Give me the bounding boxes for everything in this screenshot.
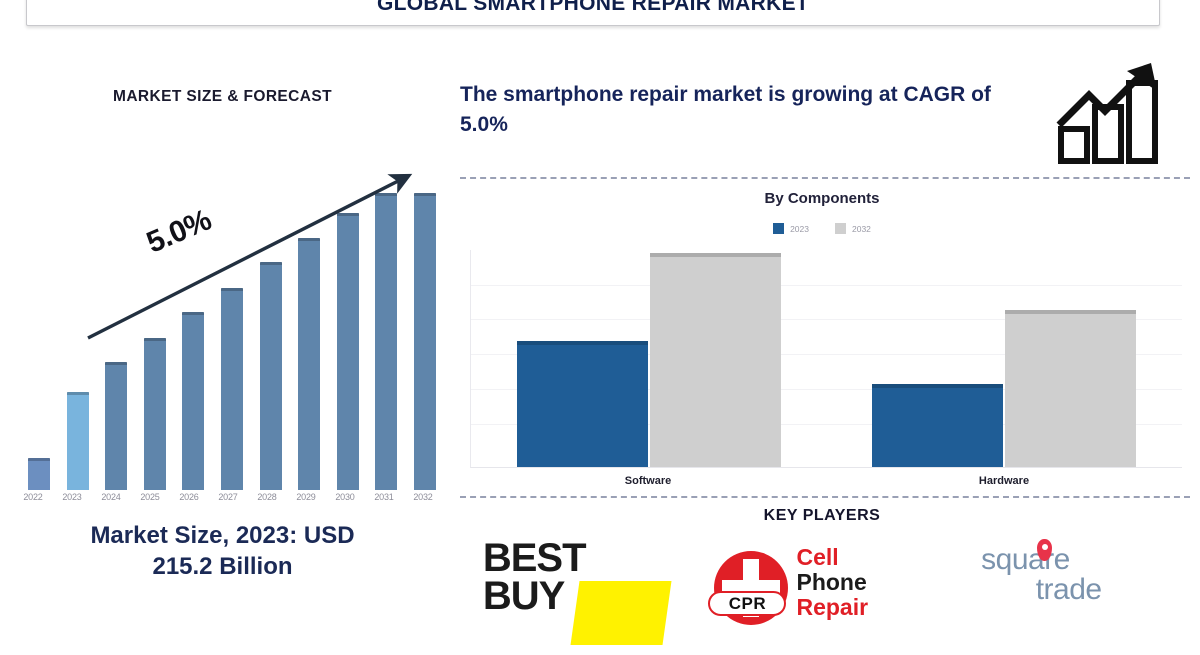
cpr-word-2: Phone <box>796 570 868 595</box>
forecast-year-label: 2031 <box>369 492 399 502</box>
best-buy-word-1: BEST <box>483 539 586 577</box>
forecast-bar <box>182 312 204 490</box>
forecast-year-label: 2029 <box>291 492 321 502</box>
legend-label: 2032 <box>852 224 871 234</box>
squaretrade-word-1: square <box>981 545 1156 575</box>
best-buy-wordmark: BEST BUY <box>483 539 586 615</box>
forecast-bar <box>105 362 127 490</box>
forecast-bar <box>221 288 243 490</box>
cpr-word-1: Cell <box>796 545 868 570</box>
forecast-year-label: 2024 <box>96 492 126 502</box>
logo-squaretrade: square trade <box>954 537 1184 655</box>
infographic-title-bar: GLOBAL SMARTPHONE REPAIR MARKET <box>26 0 1160 26</box>
key-players-logos: BEST BUY CPR Cell Phone Repair <box>452 537 1192 655</box>
legend-label: 2023 <box>790 224 809 234</box>
forecast-bar <box>260 262 282 490</box>
components-category-axis: SoftwareHardware <box>470 475 1182 487</box>
legend-entry[interactable]: 2023 <box>773 223 809 234</box>
forecast-bar <box>28 458 50 490</box>
by-components-chart <box>470 250 1182 468</box>
cpr-word-3: Repair <box>796 595 868 620</box>
components-bar-groups <box>471 249 1182 467</box>
component-bar-group <box>499 249 799 467</box>
component-bar <box>650 253 781 467</box>
forecast-year-label: 2022 <box>18 492 48 502</box>
legend-swatch <box>835 223 846 234</box>
forecast-bar <box>375 193 397 490</box>
forecast-year-label: 2027 <box>213 492 243 502</box>
growth-bar-chart-arrow-icon <box>1047 55 1172 165</box>
logo-cpr-cell-phone-repair: CPR Cell Phone Repair <box>707 537 937 655</box>
forecast-year-label: 2026 <box>174 492 204 502</box>
divider-top <box>460 177 1190 179</box>
squaretrade-word-2: trade <box>981 575 1156 605</box>
divider-bottom <box>460 496 1190 498</box>
market-size-forecast-chart: 5.0% <box>18 160 438 490</box>
right-content-panel: The smartphone repair market is growing … <box>452 55 1200 600</box>
market-size-value: Market Size, 2023: USD 215.2 Billion <box>0 520 445 582</box>
market-size-forecast-panel: MARKET SIZE & FORECAST 5.0% 202220232024… <box>0 55 445 600</box>
forecast-year-label: 2025 <box>135 492 165 502</box>
forecast-bar <box>414 193 436 490</box>
market-size-forecast-heading: MARKET SIZE & FORECAST <box>0 88 445 106</box>
cpr-cross-mark-icon: CPR <box>714 551 788 625</box>
forecast-year-label: 2030 <box>330 492 360 502</box>
cpr-abbreviation: CPR <box>708 591 786 616</box>
component-bar <box>872 384 1003 467</box>
forecast-bar <box>337 213 359 490</box>
legend-swatch <box>773 223 784 234</box>
forecast-year-label: 2032 <box>408 492 438 502</box>
by-components-title: By Components <box>452 190 1192 207</box>
components-legend: 20232032 <box>452 223 1192 234</box>
market-size-line-2: 215.2 Billion <box>0 551 445 582</box>
legend-entry[interactable]: 2032 <box>835 223 871 234</box>
forecast-bars <box>28 190 436 490</box>
forecast-bar <box>298 238 320 490</box>
forecast-year-label: 2023 <box>57 492 87 502</box>
cagr-statement: The smartphone repair market is growing … <box>460 80 1030 140</box>
component-bar <box>1005 310 1136 467</box>
component-category-label: Hardware <box>854 475 1154 487</box>
component-bar <box>517 341 648 467</box>
forecast-bar <box>144 338 166 490</box>
component-bar-group <box>854 249 1154 467</box>
best-buy-word-2: BUY <box>483 577 586 615</box>
forecast-bar <box>67 392 89 490</box>
forecast-year-axis: 2022202320242025202620272028202920302031… <box>18 492 438 502</box>
logo-best-buy: BEST BUY <box>460 537 690 655</box>
component-category-label: Software <box>498 475 798 487</box>
forecast-year-label: 2028 <box>252 492 282 502</box>
page-title: GLOBAL SMARTPHONE REPAIR MARKET <box>377 0 809 16</box>
key-players-title: KEY PLAYERS <box>452 507 1192 525</box>
market-size-line-1: Market Size, 2023: USD <box>0 520 445 551</box>
cpr-wordmark: Cell Phone Repair <box>796 545 868 620</box>
